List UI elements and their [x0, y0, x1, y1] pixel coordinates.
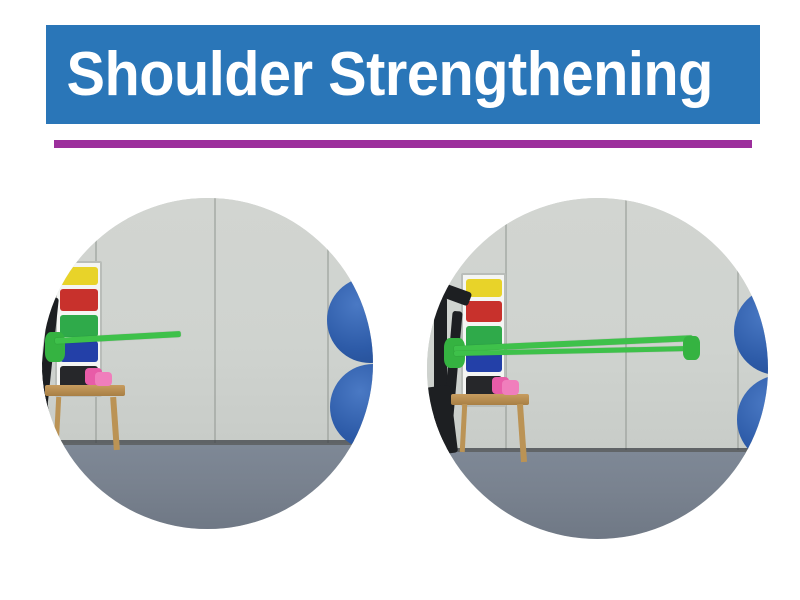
photo-scene-end — [427, 198, 768, 539]
shirt-collar — [42, 198, 44, 200]
accent-rule-divider — [54, 140, 752, 148]
shirt-collar — [427, 198, 429, 200]
page-title: Shoulder Strengthening — [46, 44, 713, 106]
band-roll-red — [60, 289, 98, 310]
slide-canvas: Shoulder Strengthening — [0, 0, 800, 600]
band-roll-yellow — [60, 267, 98, 286]
band-roll-red — [466, 301, 502, 322]
band-roll-green — [60, 315, 98, 338]
title-banner: Shoulder Strengthening — [46, 25, 760, 124]
exercise-photo-start — [42, 198, 373, 529]
band-roll-blue — [60, 341, 98, 362]
band-grip-knot — [683, 336, 700, 360]
table-top — [45, 385, 124, 396]
floor-background — [427, 452, 768, 539]
floor-background — [42, 445, 373, 529]
cabinet-seam — [625, 198, 627, 450]
dumbbell-pink — [502, 380, 519, 395]
dumbbell-pink — [95, 372, 112, 387]
band-anchor-knot — [45, 332, 65, 362]
exercise-photo-end — [427, 198, 768, 539]
cabinet-seam — [214, 198, 216, 443]
photo-scene-start — [42, 198, 373, 529]
